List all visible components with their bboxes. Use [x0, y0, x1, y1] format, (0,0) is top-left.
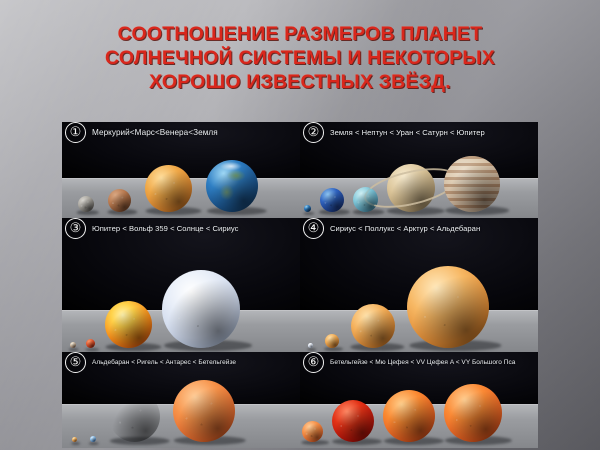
panel-3-number: ③ — [65, 218, 86, 239]
presentation-slide: СООТНОШЕНИЕ РАЗМЕРОВ ПЛАНЕТ СОЛНЕЧНОЙ СИ… — [0, 0, 600, 450]
panel-5-caption: Альдебаран < Ригель < Антарес < Бетельге… — [92, 359, 300, 366]
panel-5: ⑤ Альдебаран < Ригель < Антарес < Бетель… — [62, 352, 300, 448]
body-aldebaran — [407, 266, 489, 348]
body-uranus — [353, 187, 378, 212]
panel-2: ② Земля < Нептун < Уран < Сатурн < Юпите… — [300, 122, 538, 218]
sphere-pollux-small — [325, 334, 339, 348]
panel-4-caption: Сириус < Поллукс < Арктур < Альдебаран — [330, 224, 538, 233]
sphere-betelgeuse — [302, 421, 323, 442]
body-vv-cephei-a — [383, 390, 435, 442]
sphere-uranus — [353, 187, 378, 212]
sphere-rigel — [90, 436, 96, 442]
body-earth — [304, 205, 311, 212]
body-antares — [109, 391, 160, 442]
slide-title: СООТНОШЕНИЕ РАЗМЕРОВ ПЛАНЕТ СОЛНЕЧНОЙ СИ… — [0, 22, 600, 94]
panel-6-caption-row: ⑥ Бетельгейзе < Мю Цефея < VV Цефея A < … — [300, 352, 538, 372]
sphere-vy-canis-majoris — [444, 384, 502, 442]
panel-1-caption-row: ① Меркурий<Марс<Венера<Земля — [62, 122, 300, 142]
body-venus — [145, 165, 192, 212]
sphere-mu-cephei — [332, 400, 374, 442]
sphere-saturn — [387, 164, 435, 212]
panel-3-caption-row: ③ Юпитер < Вольф 359 < Солнце < Сириус — [62, 218, 300, 238]
panel-5-caption-row: ⑤ Альдебаран < Ригель < Антарес < Бетель… — [62, 352, 300, 372]
sphere-venus — [145, 165, 192, 212]
size-comparison-image: ① Меркурий<Марс<Венера<Земля — [62, 122, 538, 448]
panel-3: ③ Юпитер < Вольф 359 < Солнце < Сириус — [62, 218, 300, 352]
panel-6-caption: Бетельгейзе < Мю Цефея < VV Цефея A < VY… — [330, 359, 538, 366]
body-mu-cephei — [332, 400, 374, 442]
panel-6: ⑥ Бетельгейзе < Мю Цефея < VV Цефея A < … — [300, 352, 538, 448]
panel-2-number: ② — [303, 122, 324, 143]
sphere-sirius — [162, 270, 240, 348]
sphere-arcturus — [351, 304, 395, 348]
body-saturn — [387, 164, 435, 212]
body-arcturus — [351, 304, 395, 348]
sphere-jupiter — [444, 156, 500, 212]
panel-4: ④ Сириус < Поллукс < Арктур < Альдебаран — [300, 218, 538, 352]
panel-3-caption: Юпитер < Вольф 359 < Солнце < Сириус — [92, 224, 300, 233]
sphere-aldebaran — [72, 437, 77, 442]
body-sun — [105, 301, 152, 348]
body-vy-canis-majoris — [444, 384, 502, 442]
body-betelgeuse — [302, 421, 323, 442]
body-mercury — [78, 196, 94, 212]
body-sirius — [308, 343, 313, 348]
panel-6-number: ⑥ — [303, 352, 324, 373]
panel-1-number: ① — [65, 122, 86, 143]
panel-4-caption-row: ④ Сириус < Поллукс < Арктур < Альдебаран — [300, 218, 538, 238]
panel-5-number: ⑤ — [65, 352, 86, 373]
body-rigel — [90, 436, 96, 442]
body-wolf-359 — [86, 339, 95, 348]
sphere-jupiter — [70, 342, 76, 348]
body-earth — [206, 160, 258, 212]
panel-2-caption-row: ② Земля < Нептун < Уран < Сатурн < Юпите… — [300, 122, 538, 142]
sphere-earth — [206, 160, 258, 212]
sphere-vv-cephei-a — [383, 390, 435, 442]
sphere-sun — [105, 301, 152, 348]
body-mars — [108, 189, 131, 212]
sphere-neptune — [320, 188, 344, 212]
body-pollux-small — [325, 334, 339, 348]
panel-2-caption: Земля < Нептун < Уран < Сатурн < Юпитер — [330, 128, 538, 137]
body-betelgeuse — [173, 380, 235, 442]
panel-4-number: ④ — [303, 218, 324, 239]
body-aldebaran — [72, 437, 77, 442]
body-jupiter — [70, 342, 76, 348]
sphere-mars — [108, 189, 131, 212]
body-sirius — [162, 270, 240, 348]
sphere-earth — [304, 205, 311, 212]
sphere-aldebaran — [407, 266, 489, 348]
panel-1-caption: Меркурий<Марс<Венера<Земля — [92, 128, 300, 137]
panel-3-bodies — [62, 218, 300, 352]
sphere-betelgeuse — [173, 380, 235, 442]
panel-1: ① Меркурий<Марс<Венера<Земля — [62, 122, 300, 218]
sphere-wolf-359 — [86, 339, 95, 348]
panel-4-bodies — [300, 218, 538, 352]
sphere-sirius — [308, 343, 313, 348]
body-neptune — [320, 188, 344, 212]
sphere-mercury — [78, 196, 94, 212]
body-jupiter — [444, 156, 500, 212]
sphere-antares — [109, 391, 160, 442]
